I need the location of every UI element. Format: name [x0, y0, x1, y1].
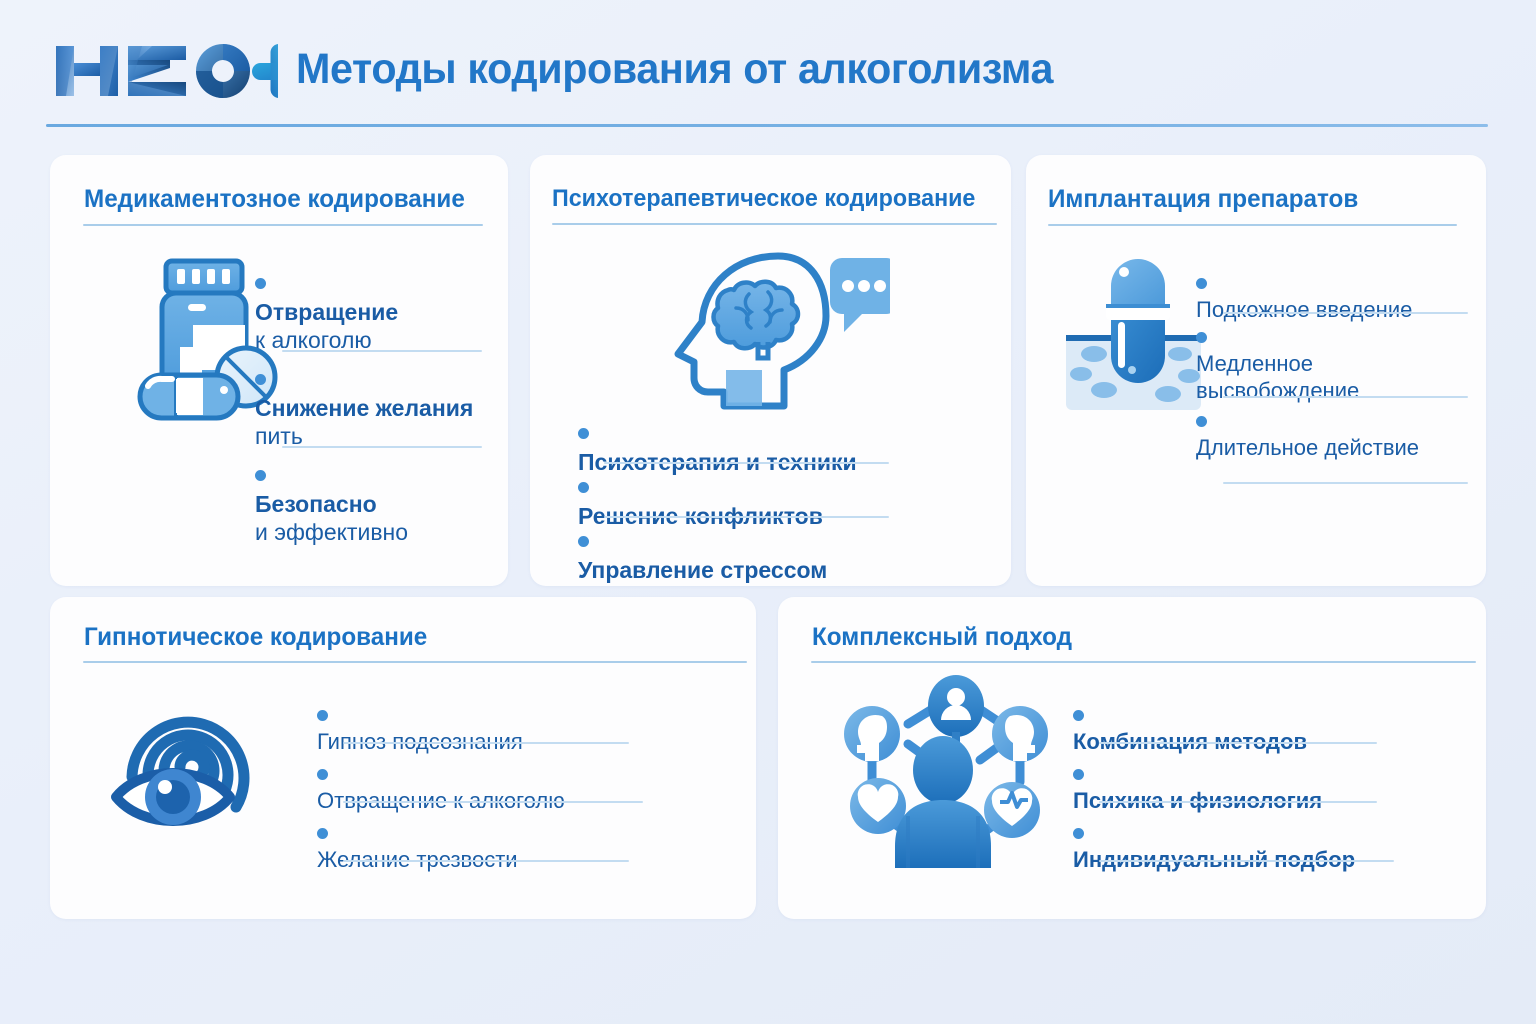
- page-header: Методы кодирования от алкоголизма: [0, 0, 1536, 132]
- logo-plus-icon: [252, 44, 278, 98]
- implant-capsule-icon: [1056, 250, 1211, 420]
- spiral-eye-icon: [108, 679, 283, 844]
- logo-svg: [52, 38, 278, 104]
- node-person-icon: [928, 675, 984, 746]
- bullet-text: Желание трезвости: [317, 820, 637, 874]
- card-psychotherapy[interactable]: Психотерапевтическое кодирование: [530, 155, 1011, 586]
- bullet-dot: [1073, 769, 1084, 780]
- neo-plus-logo: [52, 38, 278, 104]
- network-person-icon: [830, 672, 1055, 877]
- page-title: Методы кодирования от алкоголизма: [296, 45, 1053, 94]
- bullet-dot: [578, 536, 589, 547]
- list-item[interactable]: Индивидуальный подбор: [1073, 820, 1383, 852]
- bullet-dot: [578, 482, 589, 493]
- bullet-separator: [343, 860, 629, 862]
- bullet-dot: [1073, 828, 1084, 839]
- node-head-right-icon: [992, 706, 1048, 762]
- bullet-separator: [1223, 482, 1468, 484]
- list-item[interactable]: Психотерапия и техники: [578, 420, 898, 454]
- logo-letter-o: [196, 44, 250, 98]
- header-divider: [46, 124, 1488, 127]
- central-person-icon: [895, 736, 991, 868]
- bullet-dot: [317, 828, 328, 839]
- bullet-list-implantation: Подкожное введение Медленное высвобожден…: [1196, 270, 1471, 442]
- bullet-text: Комбинация методов: [1073, 702, 1383, 756]
- bullet-dot: [578, 428, 589, 439]
- node-heart-pulse-icon: [984, 782, 1040, 838]
- bullet-dot: [1196, 278, 1207, 289]
- bullet-text: Безопасно и эффективно: [255, 463, 490, 546]
- list-item[interactable]: Медленное высвобождение: [1196, 324, 1471, 386]
- card-complex-approach[interactable]: Комплексный подход: [778, 597, 1486, 919]
- node-heart-icon: [850, 778, 906, 834]
- card-implantation[interactable]: Имплантация препаратов: [1026, 155, 1486, 586]
- card-title-underline: [1048, 224, 1457, 226]
- speech-bubble-icon: [830, 258, 890, 332]
- card-title-underline: [83, 224, 483, 226]
- bullet-separator: [1099, 801, 1377, 803]
- bullet-dot: [255, 374, 266, 385]
- bullet-separator: [343, 801, 643, 803]
- bullet-dot: [317, 769, 328, 780]
- bullet-separator: [1099, 742, 1377, 744]
- card-title-underline: [811, 661, 1476, 663]
- card-title-medication: Медикаментозное кодирование: [84, 185, 465, 214]
- card-title-underline: [552, 223, 997, 225]
- list-item[interactable]: Отвращение к алкоголю: [317, 761, 637, 793]
- bullet-dot: [1196, 332, 1207, 343]
- card-title-implantation: Имплантация препаратов: [1048, 185, 1358, 214]
- bullet-text: Управление стрессом: [578, 529, 898, 584]
- list-item[interactable]: Отвращение к алкоголю: [255, 270, 490, 342]
- node-head-left-icon: [844, 706, 900, 762]
- list-item[interactable]: Безопасно и эффективно: [255, 462, 490, 534]
- bullet-text: Снижение желания пить: [255, 367, 490, 450]
- bullet-list-psychotherapy: Психотерапия и техники Решение конфликто…: [578, 420, 898, 562]
- bullet-separator: [282, 350, 482, 352]
- bullet-separator: [1223, 396, 1468, 398]
- bullet-text: Гипноз подсознания: [317, 702, 637, 756]
- bullet-text: Психика и физиология: [1073, 761, 1383, 815]
- bullet-text: Медленное высвобождение: [1196, 324, 1471, 404]
- bullet-text: Отвращение к алкоголю: [317, 761, 637, 815]
- bullet-dot: [1073, 710, 1084, 721]
- list-item[interactable]: Желание трезвости: [317, 820, 637, 852]
- bullet-text: Решение конфликтов: [578, 475, 898, 530]
- list-item[interactable]: Длительное действие: [1196, 408, 1471, 442]
- card-hypnosis[interactable]: Гипнотическое кодирование Гипноз по: [50, 597, 756, 919]
- bullet-text: Психотерапия и техники: [578, 421, 898, 476]
- bullet-separator: [1099, 860, 1394, 862]
- bullet-separator: [604, 516, 889, 518]
- bullet-dot: [255, 470, 266, 481]
- list-item[interactable]: Комбинация методов: [1073, 702, 1383, 734]
- bullet-list-hypnosis: Гипноз подсознания Отвращение к алкоголю…: [317, 702, 637, 852]
- list-item[interactable]: Подкожное введение: [1196, 270, 1471, 304]
- card-title-underline: [83, 661, 747, 663]
- bullet-dot: [1196, 416, 1207, 427]
- bullet-dot: [255, 278, 266, 289]
- list-item[interactable]: Психика и физиология: [1073, 761, 1383, 793]
- bullet-text: Подкожное введение: [1196, 270, 1471, 324]
- bullet-list-complex-approach: Комбинация методов Психика и физиология …: [1073, 702, 1383, 852]
- card-medication[interactable]: Медикаментозное кодирование: [50, 155, 508, 586]
- card-title-complex-approach: Комплексный подход: [812, 623, 1072, 652]
- bullet-text: Отвращение к алкоголю: [255, 271, 490, 354]
- eye-icon: [116, 769, 230, 825]
- card-title-hypnosis: Гипнотическое кодирование: [84, 623, 427, 652]
- bullet-text: Индивидуальный подбор: [1073, 820, 1383, 874]
- bullet-separator: [282, 446, 482, 448]
- bullet-separator: [343, 742, 629, 744]
- bullet-text: Длительное действие: [1196, 408, 1471, 462]
- card-title-psychotherapy: Психотерапевтическое кодирование: [552, 185, 975, 213]
- bullet-dot: [317, 710, 328, 721]
- list-item[interactable]: Снижение желания пить: [255, 366, 490, 438]
- list-item[interactable]: Гипноз подсознания: [317, 702, 637, 734]
- head-brain-speech-icon: [658, 250, 890, 415]
- bullet-list-medication: Отвращение к алкоголю Снижение желания п…: [255, 270, 490, 534]
- logo-letter-e: [128, 46, 186, 96]
- list-item[interactable]: Решение конфликтов: [578, 474, 898, 508]
- list-item[interactable]: Управление стрессом: [578, 528, 898, 562]
- bullet-separator: [1223, 312, 1468, 314]
- logo-letter-h: [56, 46, 118, 96]
- bullet-separator: [604, 462, 889, 464]
